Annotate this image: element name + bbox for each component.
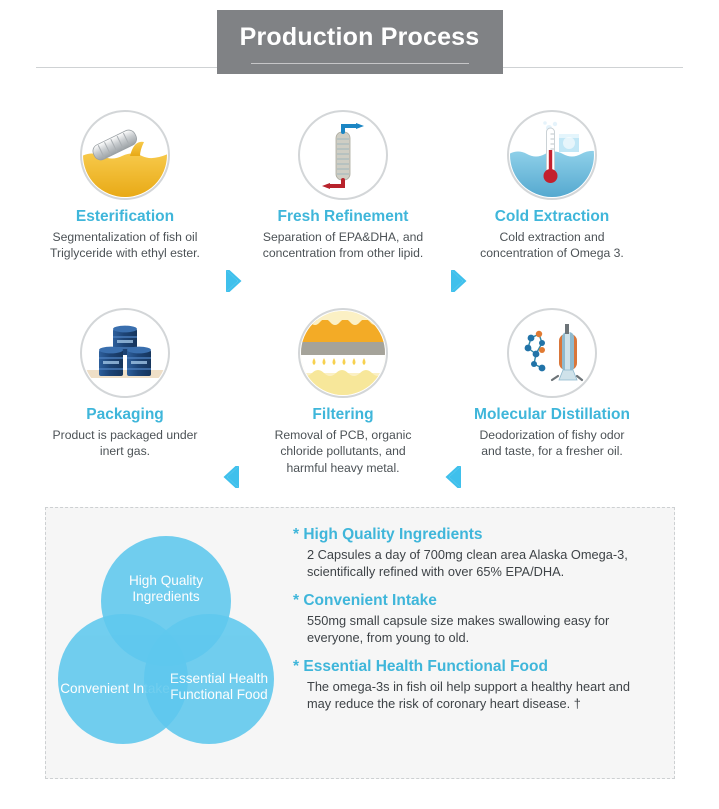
- step-title: Fresh Refinement: [243, 208, 443, 226]
- process-step-cold-extraction: Cold Extraction Cold extraction and conc…: [452, 110, 652, 262]
- page-header: Production Process: [0, 4, 719, 82]
- benefits-panel: High Quality Ingredients Convenient Inta…: [45, 507, 675, 779]
- benefit-heading: * Essential Health Functional Food: [293, 658, 656, 676]
- step-title: Packaging: [25, 406, 225, 424]
- arrow-left-icon-1: [438, 460, 472, 494]
- arrow-right-icon-1: [215, 264, 249, 298]
- bullet-star-icon: *: [293, 658, 299, 675]
- process-step-molecular-distillation: Molecular Distillation Deodorization of …: [452, 308, 652, 460]
- process-step-esterification: Esterification Segmentalization of fish …: [25, 110, 225, 262]
- venn-diagram: High Quality Ingredients Convenient Inta…: [58, 536, 274, 754]
- bullet-star-icon: *: [293, 526, 299, 543]
- bullet-star-icon: *: [293, 592, 299, 609]
- title-underline: [251, 63, 469, 64]
- title-plate: Production Process: [217, 10, 503, 74]
- thermometer-water-icon: [507, 110, 597, 200]
- step-title: Esterification: [25, 208, 225, 226]
- arrow-left-icon-2: [216, 460, 250, 494]
- production-process-flow: Esterification Segmentalization of fish …: [0, 82, 719, 482]
- molecule-vessel-icon: [507, 308, 597, 398]
- pouring-oil-icon: [80, 110, 170, 200]
- step-title: Cold Extraction: [452, 208, 652, 226]
- benefit-heading: * High Quality Ingredients: [293, 526, 656, 544]
- page-title: Production Process: [240, 23, 480, 52]
- step-description: Cold extraction and concentration of Ome…: [452, 229, 652, 262]
- step-description: Deodorization of fishy odor and taste, f…: [452, 427, 652, 460]
- step-title: Filtering: [243, 406, 443, 424]
- step-title: Molecular Distillation: [452, 406, 652, 424]
- benefit-item-high-quality-ingredients: * High Quality Ingredients 2 Capsules a …: [293, 526, 656, 581]
- benefit-item-convenient-intake: * Convenient Intake 550mg small capsule …: [293, 592, 656, 647]
- benefit-heading-text: Convenient Intake: [303, 592, 437, 609]
- venn-label: Essential Health Functional Food: [154, 671, 284, 703]
- benefit-body-text: The omega-3s in fish oil help support a …: [293, 678, 656, 713]
- venn-circle-essential-health-functional-food: Essential Health Functional Food: [144, 614, 274, 744]
- benefits-list: * High Quality Ingredients 2 Capsules a …: [293, 526, 656, 723]
- blue-drums-icon: [80, 308, 170, 398]
- process-step-packaging: Packaging Product is packaged under iner…: [25, 308, 225, 460]
- arrow-right-icon-2: [440, 264, 474, 298]
- benefit-item-essential-health-functional-food: * Essential Health Functional Food The o…: [293, 658, 656, 713]
- process-step-filtering: Filtering Removal of PCB, organic chlori…: [243, 308, 443, 476]
- benefit-heading: * Convenient Intake: [293, 592, 656, 610]
- benefit-heading-text: High Quality Ingredients: [303, 526, 482, 543]
- process-step-fresh-refinement: Fresh Refinement Separation of EPA&DHA, …: [243, 110, 443, 262]
- step-description: Segmentalization of fish oil Triglycerid…: [25, 229, 225, 262]
- step-description: Removal of PCB, organic chloride polluta…: [243, 427, 443, 476]
- benefit-body-text: 2 Capsules a day of 700mg clean area Ala…: [293, 546, 656, 581]
- step-description: Product is packaged under inert gas.: [25, 427, 225, 460]
- benefit-body-text: 550mg small capsule size makes swallowin…: [293, 612, 656, 647]
- distillation-column-icon: [298, 110, 388, 200]
- filter-layers-icon: [298, 308, 388, 398]
- step-description: Separation of EPA&DHA, and concentration…: [243, 229, 443, 262]
- venn-label: High Quality Ingredients: [101, 573, 231, 605]
- benefit-heading-text: Essential Health Functional Food: [303, 658, 548, 675]
